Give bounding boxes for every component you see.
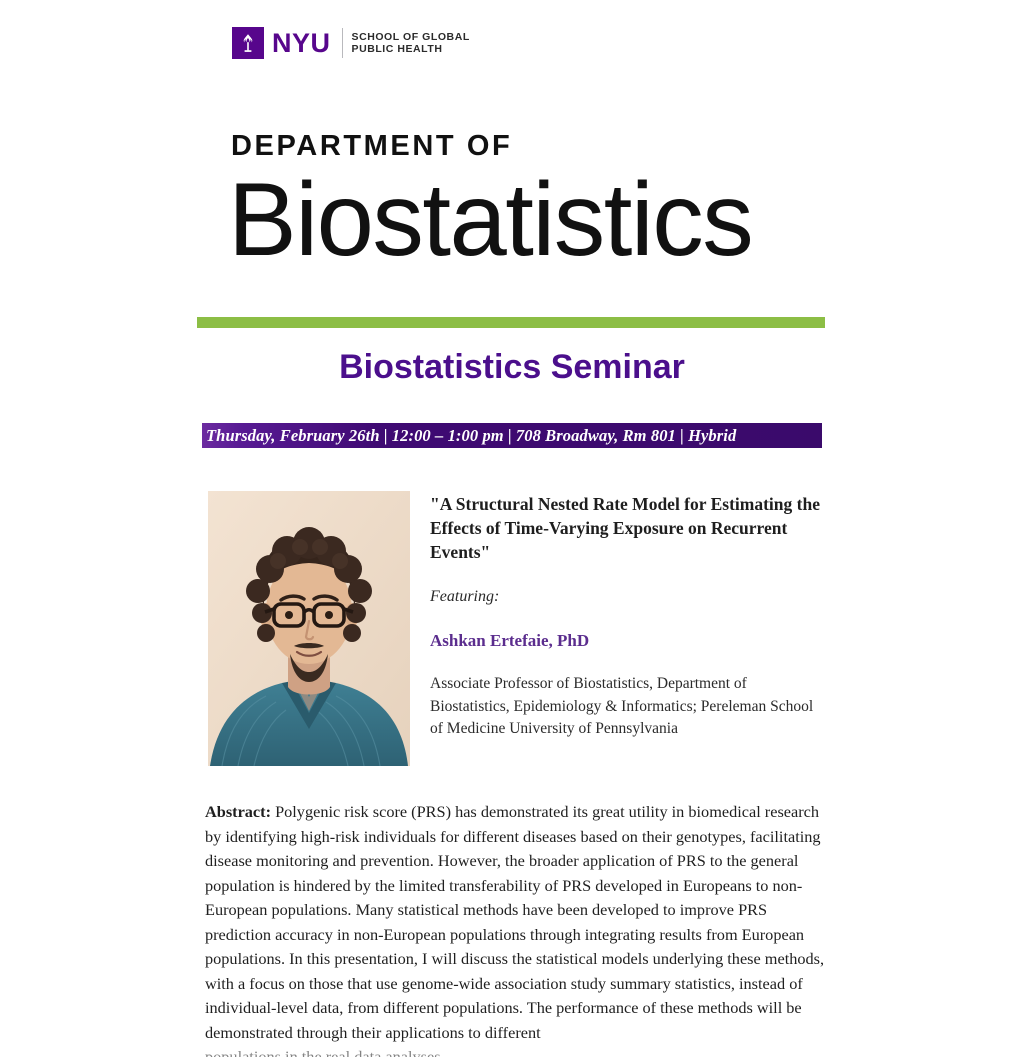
page-title: Biostatistics Seminar [0,348,1024,386]
nyu-logo-lockup: NYU SCHOOL OF GLOBAL PUBLIC HEALTH [232,26,470,60]
talk-title: "A Structural Nested Rate Model for Esti… [430,492,825,564]
event-details-banner: Thursday, February 26th | 12:00 – 1:00 p… [202,423,822,448]
nyu-torch-icon [232,27,264,59]
logo-divider [342,28,343,58]
school-line-1: SCHOOL OF GLOBAL [352,31,470,44]
department-name: Biostatistics [228,168,752,272]
featuring-label: Featuring: [430,586,825,608]
department-kicker: DEPARTMENT OF [231,132,512,161]
school-name: SCHOOL OF GLOBAL PUBLIC HEALTH [352,31,470,56]
abstract-label: Abstract: [205,802,271,821]
speaker-name: Ashkan Ertefaie, PhD [430,630,825,652]
nyu-wordmark: NYU [272,30,331,57]
speaker-headshot-photo [208,491,410,766]
abstract-body: Polygenic risk score (PRS) has demonstra… [205,802,824,1042]
abstract-clipped-tail: populations in the real data analyses. [205,1045,825,1057]
talk-details-column: "A Structural Nested Rate Model for Esti… [430,492,825,741]
event-details-text: Thursday, February 26th | 12:00 – 1:00 p… [206,426,736,446]
seminar-flyer-page: { "brand": { "logo_mark": "nyu-torch-ico… [0,0,1024,1024]
abstract-block: Abstract: Polygenic risk score (PRS) has… [205,800,825,1057]
speaker-affiliation: Associate Professor of Biostatistics, De… [430,673,825,741]
green-divider-rule [197,317,825,328]
school-line-2: PUBLIC HEALTH [352,43,470,56]
